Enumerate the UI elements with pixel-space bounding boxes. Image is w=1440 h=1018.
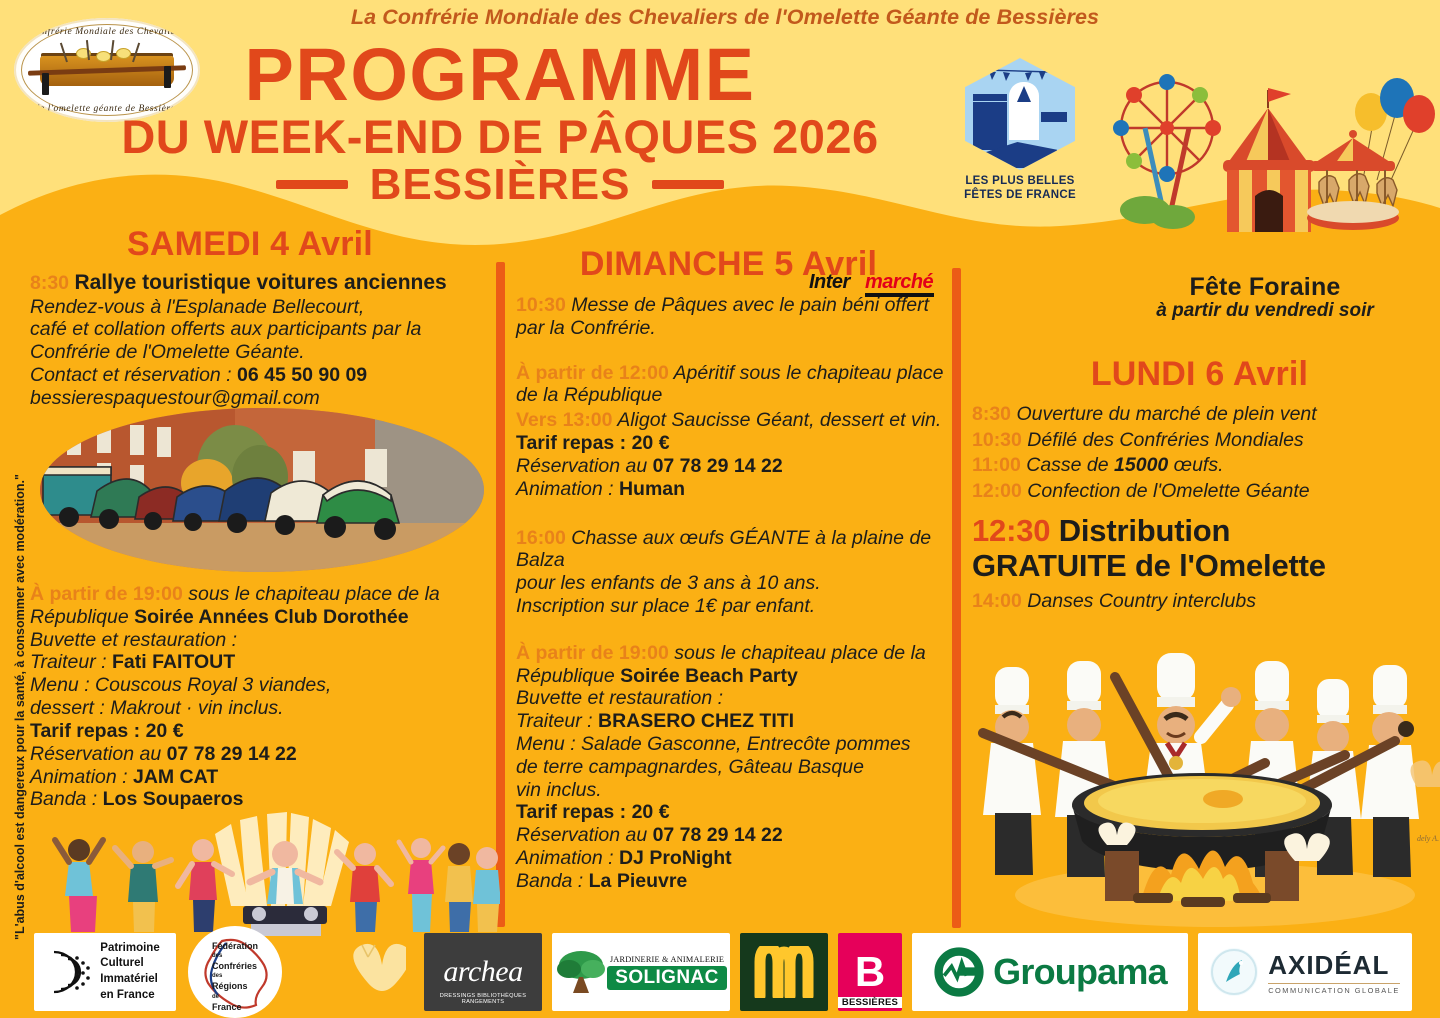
event-time: À partir de 19:00 — [30, 583, 183, 605]
organisation-title: La Confrérie Mondiale des Chevaliers de … — [210, 5, 1240, 30]
event-text: Danses Country interclubs — [1022, 590, 1256, 612]
sponsor-label: AXIDÉAL — [1268, 950, 1400, 981]
sponsor-small: de — [212, 993, 258, 1001]
menu-line: vin inclus. — [516, 779, 602, 801]
event-text: Défilé des Confréries Mondiales — [1022, 429, 1304, 451]
traiteur-name: BRASERO CHEZ TITI — [598, 710, 794, 732]
tarif: Tarif repas : 20 € — [30, 720, 184, 742]
animation-name: Human — [619, 478, 685, 500]
reservation-label: Réservation au — [516, 824, 653, 846]
event-time: 12:30 — [972, 513, 1050, 548]
sponsor-label: Fédération des Confréries des Régions de… — [212, 940, 258, 1013]
poster-header: Confrérie Mondiale des Chevaliers de l'o… — [0, 0, 1440, 235]
svg-text:dely A.: dely A. — [1417, 834, 1439, 843]
banda-label: Banda : — [30, 788, 103, 810]
logo-arc-top: Confrérie Mondiale des Chevaliers — [14, 27, 200, 37]
sponsor-small: des — [212, 972, 258, 980]
traiteur-name: Fati FAITOUT — [112, 651, 235, 673]
sponsor-line: en France — [100, 988, 159, 1004]
sponsor-line: Confréries — [212, 961, 257, 971]
reservation-label: Réservation au — [516, 455, 653, 477]
event-text: Confection de l'Omelette Géante — [1022, 480, 1310, 502]
sunday-block-chasse: 16:00 Chasse aux œufs GÉANTE à la plaine… — [516, 527, 956, 618]
animation-name: JAM CAT — [133, 766, 218, 788]
reservation-phone: 07 78 29 14 22 — [653, 824, 783, 846]
hex-shape — [973, 102, 1007, 150]
groupama-logo-icon — [933, 946, 985, 998]
sponsor-line: Culturel — [100, 956, 159, 972]
page-subtitle: DU WEEK-END DE PÂQUES 2026 — [60, 112, 940, 161]
sponsor-label: SOLIGNAC — [607, 966, 726, 990]
sponsor-solignac[interactable]: JARDINERIE & ANIMALERIE SOLIGNAC — [552, 933, 730, 1011]
sponsor-line: Fédération — [212, 941, 258, 951]
sunday-block-aperitif: À partir de 12:00 Apéritif sous le chapi… — [516, 362, 956, 408]
day-heading-monday: LUNDI 6 Avril — [972, 355, 1427, 394]
intermarche-inter: Inter — [809, 271, 850, 294]
event-line: Inscription sur place 1€ par enfant. — [516, 595, 815, 617]
reservation-phone: 07 78 29 14 22 — [167, 743, 297, 765]
chefs-omelette-illustration: dely A. — [965, 645, 1440, 930]
event-line: Confrérie de l'Omelette Géante. — [30, 341, 305, 363]
radial-dots-icon — [50, 946, 94, 998]
event-time: À partir de 19:00 — [516, 642, 669, 664]
menu-line: de terre campagnardes, Gâteau Basque — [516, 756, 864, 778]
animation-label: Animation : — [516, 478, 619, 500]
banda-name: Los Soupaeros — [103, 788, 244, 810]
event-name: Soirée Années Club Dorothée — [134, 606, 409, 628]
intermarche-marche: marché — [865, 271, 933, 294]
event-line: pour les enfants de 3 ans à 10 ans. — [516, 572, 821, 594]
sponsor-sub: DRESSINGS BIBLIOTHÈQUES RANGEMENTS — [424, 993, 542, 1005]
dash-right — [652, 180, 724, 189]
sponsor-bar: Patrimoine Culturel Immatériel en France… — [0, 925, 1440, 1018]
tarif: Tarif repas : 20 € — [516, 432, 670, 454]
animation-label: Animation : — [516, 847, 619, 869]
event-text: Messe de Pâques avec le pain béni offert… — [516, 294, 929, 339]
event-time: À partir de 12:00 — [516, 362, 669, 384]
sponsor-line: Régions — [212, 981, 248, 991]
fairground-illustration — [1105, 60, 1435, 265]
reservation-label: Réservation au — [30, 743, 167, 765]
column-sunday: DIMANCHE 5 Avril 10:30 Messe de Pâques a… — [516, 245, 956, 893]
monday-item: 10:30 Défilé des Confréries Mondiales — [972, 428, 1440, 454]
intermarche-underline — [865, 293, 934, 297]
sponsor-sub: JARDINERIE & ANIMALERIE — [607, 955, 726, 964]
sponsor-line: Patrimoine — [100, 941, 159, 957]
legal-disclaimer: "L'abus d'alcool est dangereux pour la s… — [13, 447, 27, 967]
event-text: Casse de — [1021, 454, 1114, 476]
event-time: 16:00 — [516, 527, 566, 549]
event-time: 10:30 — [516, 294, 566, 316]
event-headline: Rallye touristique voitures anciennes — [74, 271, 446, 294]
sponsor-sub: BESSIÈRES — [838, 997, 902, 1008]
menu-line: Menu : Couscous Royal 3 viandes, — [30, 674, 331, 696]
banda-label: Banda : — [516, 870, 589, 892]
axideal-bird-icon — [1210, 948, 1258, 996]
fete-foraine-caption: Fête Foraine à partir du vendredi soir — [1090, 273, 1440, 322]
sunday-block-beach-party: À partir de 19:00 sous le chapiteau plac… — [516, 642, 956, 893]
event-time: 11:00 — [972, 454, 1021, 476]
menu-line: dessert : Makrout · vin inclus. — [30, 697, 284, 719]
saturday-block-rallye: 8:30 Rallye touristique voitures ancienn… — [30, 271, 500, 410]
sunday-block-aligot: Vers 13:00 Aligot Saucisse Géant, desser… — [516, 409, 956, 500]
event-text: Ouverture du marché de plein vent — [1011, 403, 1317, 425]
event-time: 8:30 — [30, 272, 69, 294]
butterfly-icon — [330, 939, 406, 1005]
event-time: 14:00 — [972, 590, 1022, 612]
sunday-block-messe: 10:30 Messe de Pâques avec le pain béni … — [516, 294, 956, 340]
egg-count: 15000 — [1114, 454, 1168, 476]
buvette-line: Buvette et restauration : — [516, 687, 723, 709]
tarif: Tarif repas : 20 € — [516, 801, 670, 823]
monday-item: 8:30 Ouverture du marché de plein vent — [972, 402, 1440, 428]
monday-schedule: 8:30 Ouverture du marché de plein vent 1… — [972, 402, 1440, 615]
event-line: Rendez-vous à l'Esplanade Bellecourt, — [30, 296, 364, 318]
sponsor-label: B — [855, 954, 885, 990]
hexagon-icon — [965, 58, 1075, 170]
fete-foraine-title: Fête Foraine — [1090, 273, 1440, 302]
sponsor-label: archea — [443, 955, 522, 989]
banda-name: La Pieuvre — [589, 870, 688, 892]
event-time: 8:30 — [972, 403, 1011, 425]
sponsor-axideal[interactable]: AXIDÉAL COMMUNICATION GLOBALE — [1198, 933, 1412, 1011]
sponsor-federation-confreries[interactable]: Fédération des Confréries des Régions de… — [188, 926, 282, 1018]
sponsor-line: Immatériel — [100, 972, 159, 988]
sponsor-small: des — [212, 952, 258, 960]
highlight-line2: GRATUITE de l'Omelette — [972, 548, 1326, 583]
logo-leg — [42, 73, 49, 95]
event-text: Aligot Saucisse Géant, dessert et vin. — [613, 409, 942, 431]
tree-icon — [555, 949, 607, 995]
contact-phone: 06 45 50 90 09 — [237, 364, 367, 386]
event-line: café et collation offerts aux participan… — [30, 318, 421, 340]
event-time: 12:00 — [972, 480, 1022, 502]
event-name: Soirée Beach Party — [620, 665, 798, 687]
fete-foraine-subtitle: à partir du vendredi soir — [1090, 300, 1440, 322]
hex-shape — [1041, 112, 1067, 122]
highlight-line1: Distribution — [1050, 513, 1230, 548]
fetes-logo-label: LES PLUS BELLES FÊTES DE FRANCE — [955, 174, 1085, 203]
dash-left — [276, 180, 348, 189]
sponsor-bessieres[interactable]: B BESSIÈRES — [838, 933, 902, 1011]
event-tail: œufs. — [1168, 454, 1223, 476]
buvette-line: Buvette et restauration : — [30, 629, 237, 651]
event-time: 10:30 — [972, 429, 1022, 451]
sponsor-label: Patrimoine Culturel Immatériel en France — [100, 941, 159, 1003]
page-title: PROGRAMME — [60, 40, 940, 110]
contact-label: Contact et réservation : — [30, 364, 237, 386]
column-saturday: SAMEDI 4 Avril 8:30 Rallye touristique v… — [30, 225, 500, 410]
event-text: Chasse aux œufs GÉANTE à la plaine de Ba… — [516, 527, 931, 572]
vintage-cars-photo — [35, 405, 490, 575]
sponsor-label: Groupama — [993, 951, 1167, 993]
reservation-phone: 07 78 29 14 22 — [653, 455, 783, 477]
title-block: PROGRAMME DU WEEK-END DE PÂQUES 2026 BES… — [60, 40, 940, 210]
column-monday: LUNDI 6 Avril 8:30 Ouverture du marché d… — [972, 355, 1440, 615]
hex-shape — [973, 94, 1007, 101]
sponsor-patrimoine-culturel[interactable]: Patrimoine Culturel Immatériel en France — [34, 933, 176, 1011]
traiteur-label: Traiteur : — [30, 651, 112, 673]
city-name: BESSIÈRES — [370, 160, 631, 210]
sponsor-sub: COMMUNICATION GLOBALE — [1268, 983, 1400, 995]
city-row: BESSIÈRES — [60, 160, 940, 210]
animation-label: Animation : — [30, 766, 133, 788]
sponsor-archea[interactable]: archea DRESSINGS BIBLIOTHÈQUES RANGEMENT… — [424, 933, 542, 1011]
sponsor-mcdonalds[interactable] — [740, 933, 828, 1011]
animation-name: DJ ProNight — [619, 847, 732, 869]
les-plus-belles-fetes-logo: LES PLUS BELLES FÊTES DE FRANCE — [955, 58, 1085, 188]
saturday-block-soiree: À partir de 19:00 sous le chapiteau plac… — [30, 583, 500, 811]
sponsor-groupama[interactable]: Groupama — [912, 933, 1188, 1011]
monday-highlight: 12:30 Distribution GRATUITE de l'Omelett… — [972, 514, 1440, 583]
traiteur-label: Traiteur : — [516, 710, 598, 732]
monday-item: 14:00 Danses Country interclubs — [972, 589, 1440, 615]
sponsor-line: France — [212, 1002, 242, 1012]
golden-arches-icon — [754, 946, 814, 998]
menu-line: Menu : Salade Gasconne, Entrecôte pommes — [516, 733, 911, 755]
intermarche-logo: Inter marché — [809, 271, 934, 297]
monday-item: 11:00 Casse de 15000 œufs. — [972, 453, 1440, 479]
event-time: Vers 13:00 — [516, 409, 613, 431]
day-heading-saturday: SAMEDI 4 Avril — [30, 225, 470, 264]
monday-item: 12:00 Confection de l'Omelette Géante — [972, 479, 1440, 505]
